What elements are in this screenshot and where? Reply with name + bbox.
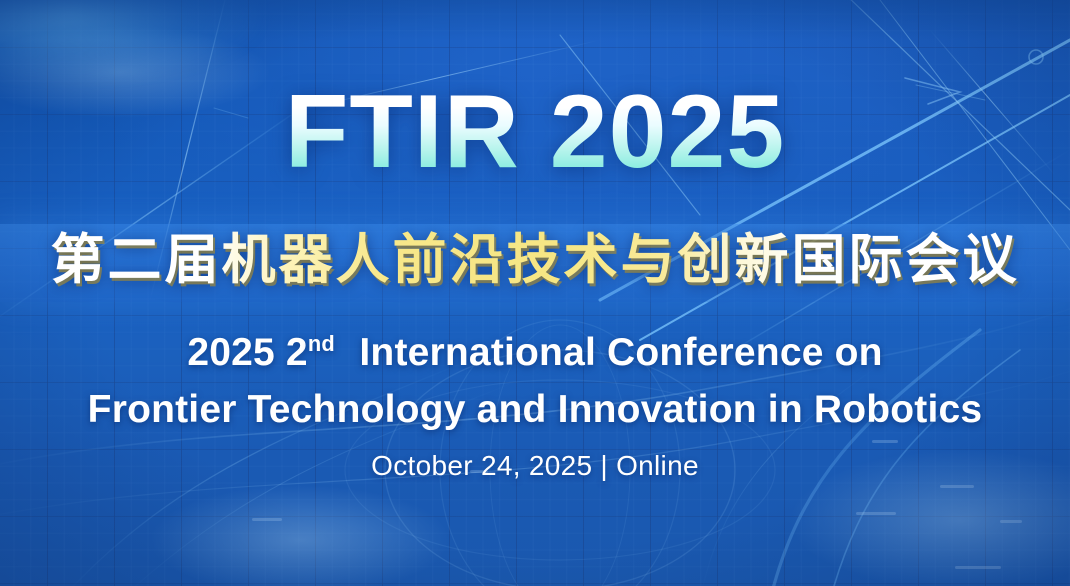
conference-banner: FTIR 2025 第二届机器人前沿技术与创新国际会议 2025 2nd Int… <box>0 0 1070 586</box>
ordinal-suffix: nd <box>308 331 335 356</box>
english-title-year-ordinal: 2025 2 <box>187 331 308 374</box>
english-title-line-1: 2025 2nd International Conference on <box>0 324 1070 381</box>
english-title-line-2: Frontier Technology and Innovation in Ro… <box>0 381 1070 438</box>
conference-date-location: October 24, 2025 | Online <box>0 450 1070 482</box>
conference-chinese-title: 第二届机器人前沿技术与创新国际会议 <box>0 228 1070 293</box>
english-title-line-1-suffix: International Conference on <box>359 331 882 374</box>
conference-acronym-title: FTIR 2025 <box>0 76 1070 188</box>
conference-english-title: 2025 2nd International Conference on Fro… <box>0 324 1070 438</box>
